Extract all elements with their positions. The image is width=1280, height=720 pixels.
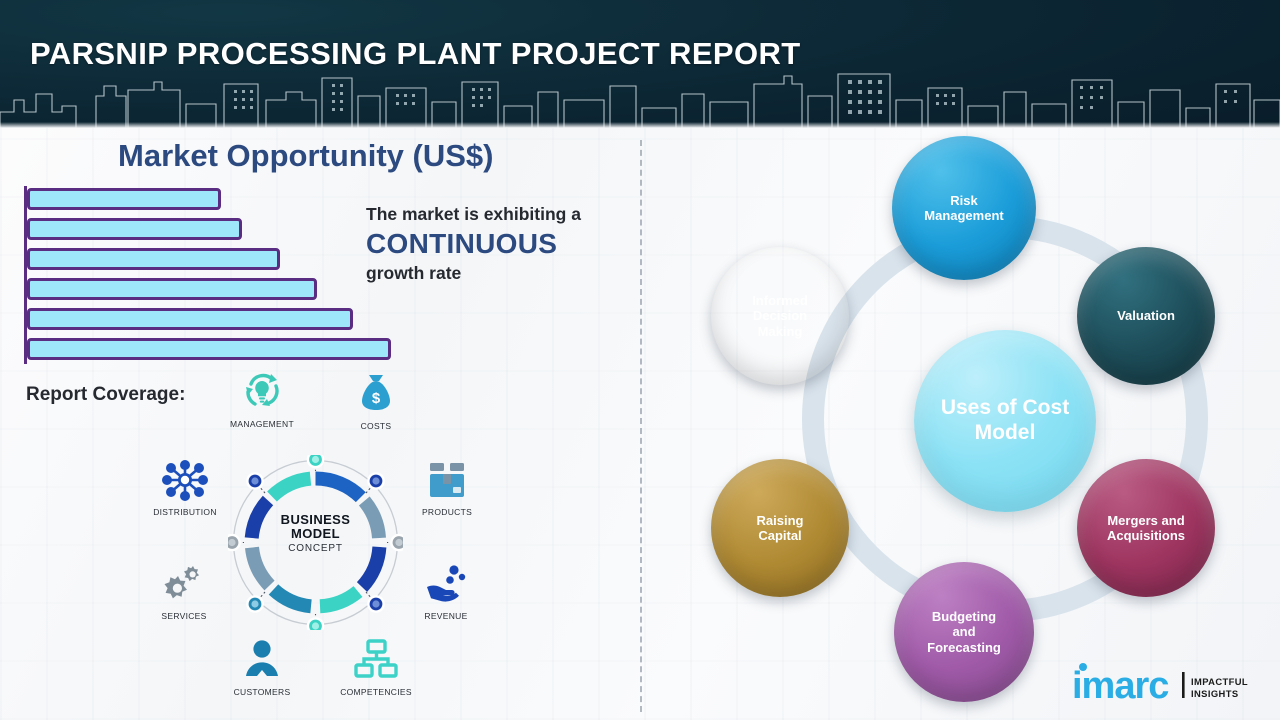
- bar-4: [27, 278, 317, 300]
- coverage-label-distribution: DISTRIBUTION: [143, 507, 227, 517]
- node-valuation[interactable]: Valuation: [1077, 247, 1215, 385]
- coverage-label-revenue: REVENUE: [404, 611, 488, 621]
- svg-text:IMPACTFUL: IMPACTFUL: [1191, 676, 1248, 687]
- callout-line-1: The market is exhibiting a: [366, 204, 636, 225]
- hand-coins-icon: [404, 562, 488, 608]
- bar-6: [27, 338, 391, 360]
- chart-axis: [24, 186, 27, 364]
- market-opportunity-bar-chart: [24, 186, 404, 364]
- node-budgeting-and-forecasting[interactable]: Budgeting and Forecasting: [894, 562, 1034, 702]
- callout-line-3: growth rate: [366, 263, 636, 284]
- node-informed-line-3: Making: [746, 324, 814, 339]
- node-raising-capital-line-2: Capital: [751, 528, 810, 543]
- node-budgeting-line-1: Budgeting: [921, 609, 1007, 624]
- node-raising-capital-line-1: Raising: [751, 513, 810, 528]
- bar-2: [27, 218, 242, 240]
- coverage-label-costs: COSTS: [334, 421, 418, 431]
- bar-1: [27, 188, 221, 210]
- business-model-ring: BUSINESS MODEL CONCEPT: [228, 455, 403, 630]
- svg-text:imarc: imarc: [1072, 665, 1169, 707]
- gears-icon: [142, 562, 226, 608]
- node-valuation-line-1: Valuation: [1111, 308, 1181, 323]
- coverage-item-customers[interactable]: CUSTOMERS: [220, 638, 304, 697]
- node-risk-management[interactable]: Risk Management: [892, 136, 1036, 280]
- market-callout: The market is exhibiting a CONTINUOUS gr…: [366, 204, 636, 284]
- coverage-label-customers: CUSTOMERS: [220, 687, 304, 697]
- node-center-uses-of-cost-model[interactable]: Uses of Cost Model: [914, 330, 1096, 512]
- coverage-item-products[interactable]: PRODUCTS: [405, 458, 489, 517]
- bar-3: [27, 248, 280, 270]
- coverage-label-products: PRODUCTS: [405, 507, 489, 517]
- coverage-label-competencies: COMPETENCIES: [334, 687, 418, 697]
- person-user-icon: [220, 638, 304, 684]
- node-mergers-line-2: Acquisitions: [1101, 528, 1191, 543]
- node-informed-decision-making[interactable]: Informed Decision Making: [711, 247, 849, 385]
- package-box-icon: [405, 458, 489, 504]
- city-skyline-icon: [0, 66, 1280, 128]
- coverage-item-revenue[interactable]: REVENUE: [404, 562, 488, 621]
- money-bag-icon: $: [334, 372, 418, 418]
- org-chart-icon: [334, 638, 418, 684]
- coverage-item-costs[interactable]: $ COSTS: [334, 372, 418, 431]
- coverage-label-management: MANAGEMENT: [220, 419, 304, 429]
- network-nodes-icon: [143, 458, 227, 504]
- imarc-logo[interactable]: imarc IMPACTFUL INSIGHTS: [1072, 660, 1272, 708]
- svg-text:INSIGHTS: INSIGHTS: [1191, 688, 1238, 699]
- uses-of-cost-model-diagram: Uses of Cost Model Risk Management Valua…: [640, 128, 1280, 720]
- node-informed-line-1: Informed: [746, 293, 814, 308]
- lightbulb-recycle-icon: [220, 370, 304, 416]
- coverage-item-services[interactable]: SERVICES: [142, 562, 226, 621]
- coverage-label-services: SERVICES: [142, 611, 226, 621]
- page-title: PARSNIP PROCESSING PLANT PROJECT REPORT: [30, 36, 801, 72]
- callout-line-2: CONTINUOUS: [366, 225, 636, 263]
- node-informed-line-2: Decision: [746, 308, 814, 323]
- coverage-item-management[interactable]: MANAGEMENT: [220, 370, 304, 429]
- node-mergers-and-acquisitions[interactable]: Mergers and Acquisitions: [1077, 459, 1215, 597]
- header-banner: PARSNIP PROCESSING PLANT PROJECT REPORT: [0, 0, 1280, 128]
- node-risk-management-line-1: Risk: [918, 193, 1009, 208]
- node-budgeting-line-2: and: [921, 624, 1007, 639]
- node-budgeting-line-3: Forecasting: [921, 640, 1007, 655]
- business-model-diagram: MANAGEMENT $ COSTS: [140, 370, 490, 710]
- node-risk-management-line-2: Management: [918, 208, 1009, 223]
- coverage-item-competencies[interactable]: COMPETENCIES: [334, 638, 418, 697]
- market-opportunity-title: Market Opportunity (US$): [118, 138, 493, 174]
- node-raising-capital[interactable]: Raising Capital: [711, 459, 849, 597]
- slide-root: PARSNIP PROCESSING PLANT PROJECT REPORT …: [0, 0, 1280, 720]
- node-mergers-line-1: Mergers and: [1101, 513, 1191, 528]
- svg-text:$: $: [372, 390, 381, 407]
- bar-5: [27, 308, 353, 330]
- node-center-line-1: Uses of: [941, 396, 1017, 419]
- coverage-item-distribution[interactable]: DISTRIBUTION: [143, 458, 227, 517]
